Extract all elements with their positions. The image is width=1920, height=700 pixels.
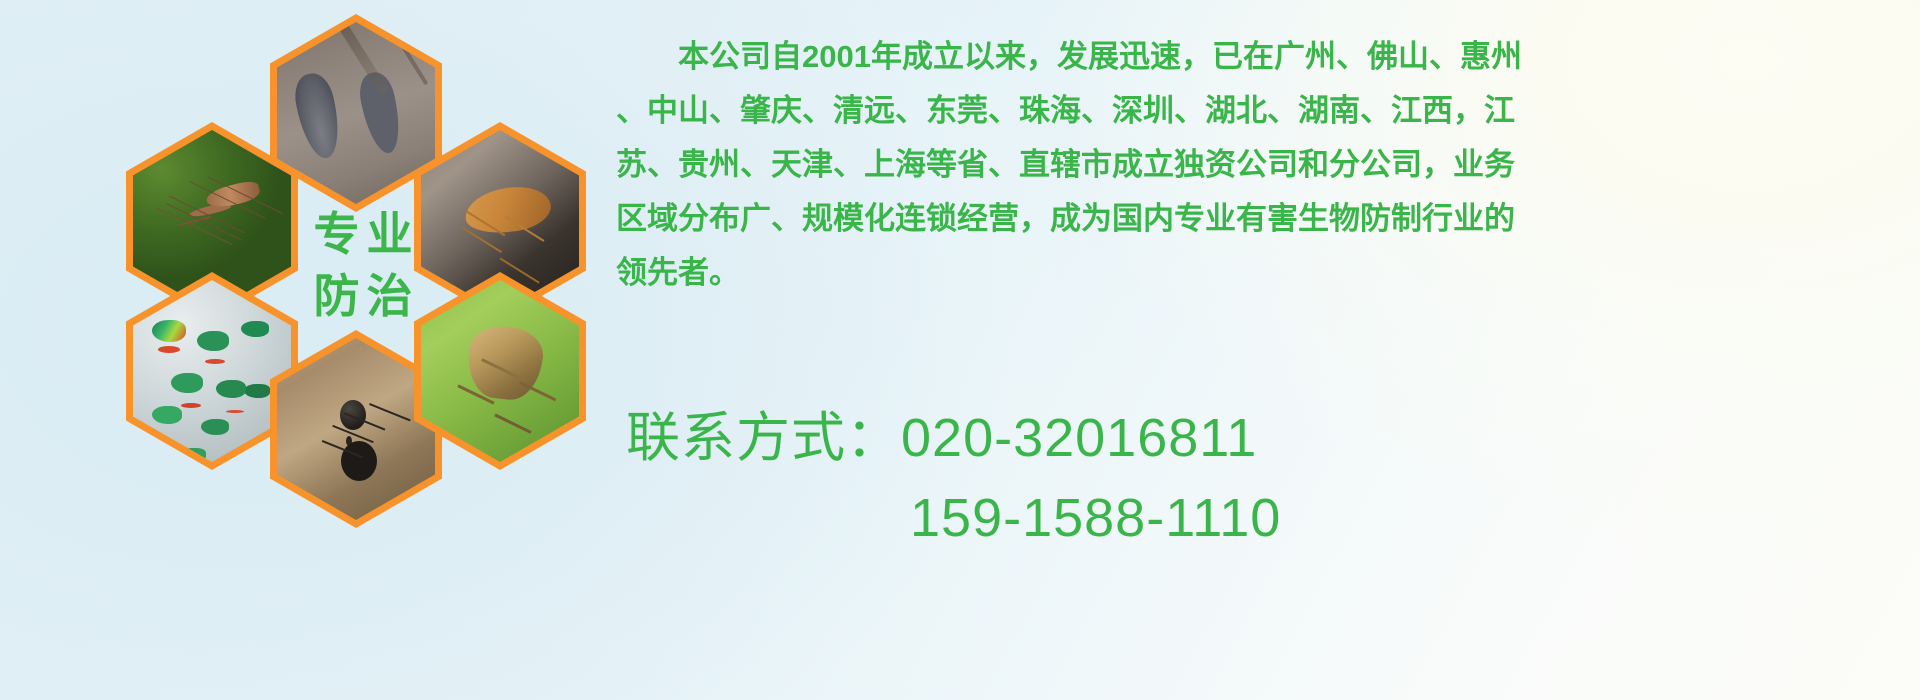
contact-label: 联系方式： xyxy=(626,408,901,468)
contact-primary-line: 联系方式：020-32016811 xyxy=(626,398,1916,478)
fly-photo-icon xyxy=(133,280,291,462)
description-line-1: 本公司自2001年成立以来，发展迅速，已在广州、佛山、惠州 xyxy=(616,30,1916,84)
description-line-3: 苏、贵州、天津、上海等省、直辖市成立独资公司和分公司，业务 xyxy=(616,138,1916,192)
honeycomb-label-line-1: 专业 xyxy=(307,206,420,262)
honeycomb-label-line-2: 防治 xyxy=(307,268,420,324)
description-line-5: 领先者。 xyxy=(616,246,1916,300)
company-description: 本公司自2001年成立以来，发展迅速，已在广州、佛山、惠州 、中山、肇庆、清远、… xyxy=(616,30,1916,300)
phone-secondary[interactable]: 159-1588-1110 xyxy=(626,478,1916,558)
pest-control-banner: 专业 防治 本公司自2001年成立以来，发展迅速，已在广州、佛山、惠州 、中山、… xyxy=(0,0,1920,700)
phone-primary[interactable]: 020-32016811 xyxy=(901,408,1257,468)
description-line-2: 、中山、肇庆、清远、东莞、珠海、深圳、湖北、湖南、江西，江 xyxy=(616,84,1916,138)
contact-info: 联系方式：020-32016811 159-1588-1110 xyxy=(626,398,1916,558)
description-line-4: 区域分布广、规模化连锁经营，成为国内专业有害生物防制行业的 xyxy=(616,192,1916,246)
hex-inner-fly xyxy=(133,280,291,462)
honeycomb-gallery: 专业 防治 xyxy=(92,0,592,580)
